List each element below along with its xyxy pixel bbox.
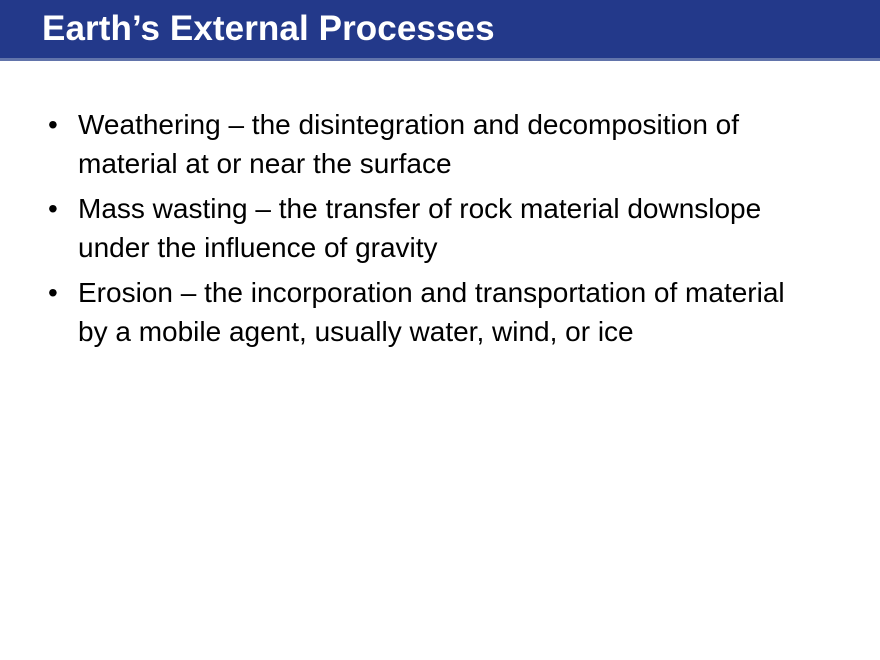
list-item: • Weathering – the disintegration and de… <box>0 105 880 183</box>
list-item: • Mass wasting – the transfer of rock ma… <box>0 189 880 267</box>
bullet-list: • Weathering – the disintegration and de… <box>0 105 880 351</box>
page-title: Earth’s External Processes <box>42 6 495 52</box>
bullet-point-icon: • <box>48 189 62 228</box>
title-bar-underline <box>0 58 880 61</box>
list-item-label: Mass wasting – the transfer of rock mate… <box>78 189 796 267</box>
bullet-point-icon: • <box>48 273 62 312</box>
list-item-label: Erosion – the incorporation and transpor… <box>78 273 796 351</box>
list-item-label: Weathering – the disintegration and deco… <box>78 105 796 183</box>
slide-title-bar: Earth’s External Processes <box>0 0 880 58</box>
list-item: • Erosion – the incorporation and transp… <box>0 273 880 351</box>
bullet-point-icon: • <box>48 105 62 144</box>
presentation-slide: Earth’s External Processes • Weathering … <box>0 0 880 660</box>
slide-body: • Weathering – the disintegration and de… <box>0 105 880 357</box>
